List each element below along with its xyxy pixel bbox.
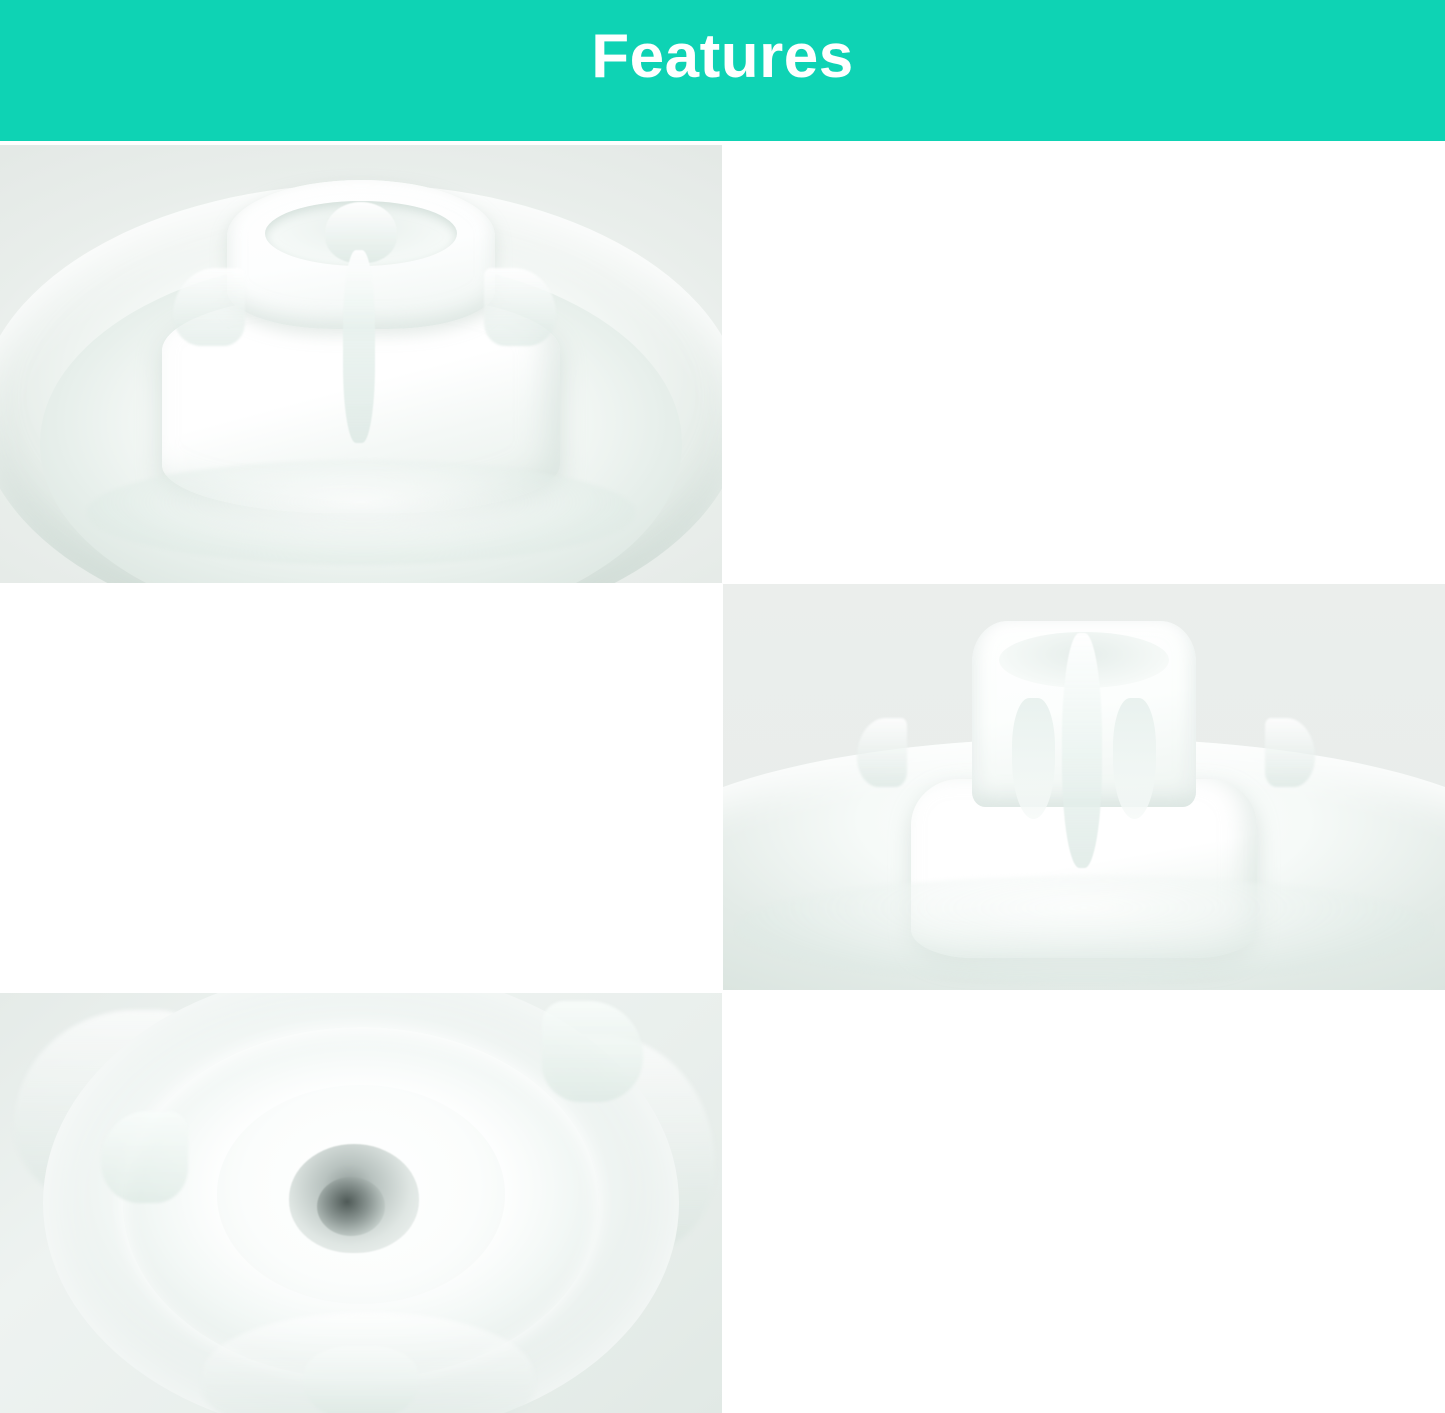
feature-text-cell-classic-design: Classic design — [722, 145, 1445, 583]
water-outlet-core-shape — [289, 1144, 419, 1253]
water-side-right-shape — [1265, 718, 1316, 787]
water-ripple-shape — [87, 460, 636, 565]
feature-image-reinforced-porcelain-material — [0, 993, 722, 1413]
feature-text-cell-exquisite-production: Exquisite production — [0, 584, 722, 990]
bowl-notch-right-shape — [542, 1001, 643, 1102]
fountain-closeup-photo — [723, 584, 1445, 990]
fountain-topdown-photo — [0, 993, 722, 1413]
feature-image-classic-design — [0, 145, 722, 583]
water-surface-shape — [737, 876, 1430, 982]
page-title: Features — [591, 26, 853, 88]
feature-image-exquisite-production — [723, 584, 1445, 990]
bowl-notch-left-shape — [101, 1111, 188, 1203]
water-stream-shape — [1062, 633, 1102, 868]
water-side-left-shape — [857, 718, 908, 787]
fountain-tiered-photo — [0, 145, 722, 583]
features-page: Features Classic design Exquisite produc… — [0, 0, 1445, 1413]
feature-text-cell-reinforced-porcelain-material: Reinforced porcelain material — [722, 993, 1445, 1413]
tower-notch-right-shape — [1113, 698, 1156, 820]
header-banner: Features — [0, 0, 1445, 141]
tower-notch-left-shape — [1012, 698, 1055, 820]
water-stream-shape — [343, 250, 375, 443]
